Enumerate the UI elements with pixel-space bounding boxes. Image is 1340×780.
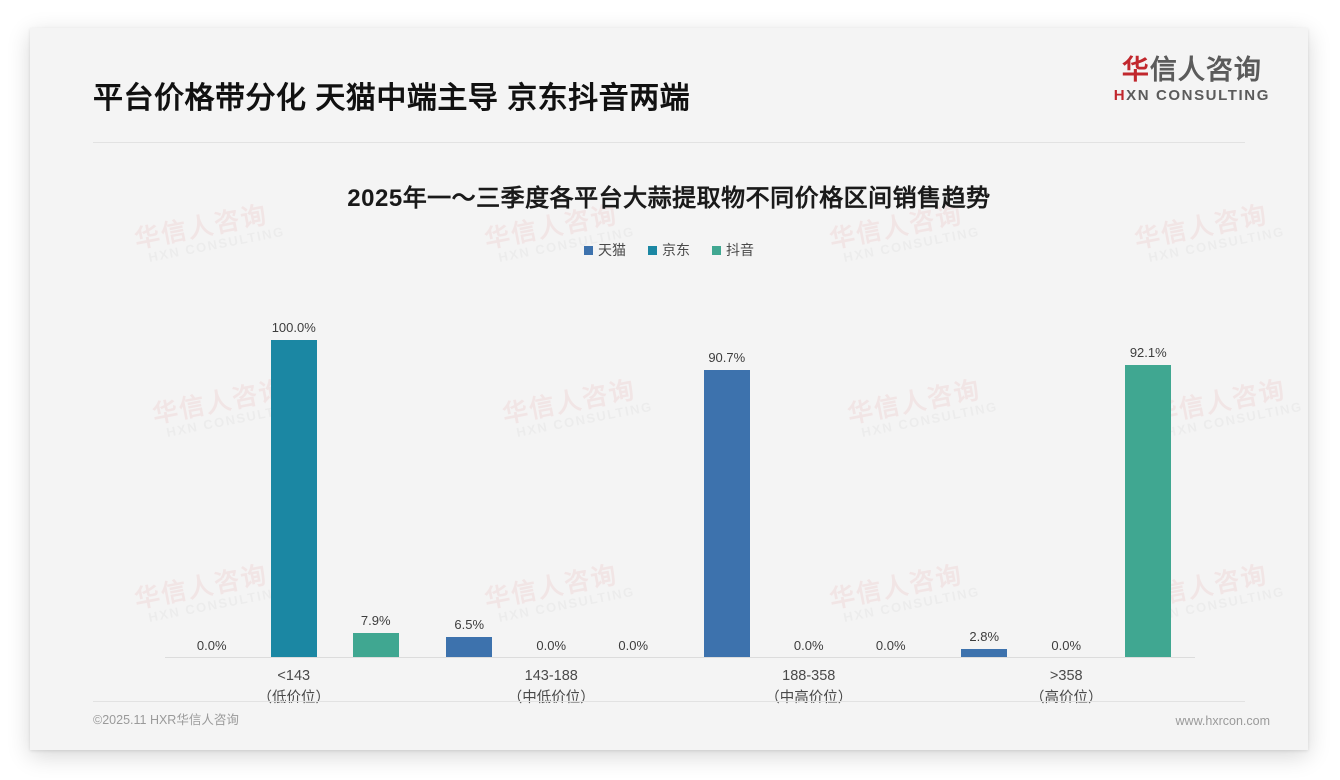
chart-title: 2025年一～三季度各平台大蒜提取物不同价格区间销售趋势 [30,178,1308,213]
bar-group-<143: 0.0%100.0%7.9% [165,283,423,658]
bar-slot: 7.9% [353,283,399,658]
x-tick-range: <143 [165,665,423,687]
bar-slot: 100.0% [271,283,317,658]
brand-logo-cn-rest: 信人咨询 [1150,55,1262,85]
bar-天猫-188-358[interactable] [704,370,750,658]
legend-label: 京东 [662,240,690,260]
x-axis-tick-188-358: 188-358（中高价位） [680,665,938,710]
bar-slot: 0.0% [1043,283,1089,658]
x-axis-tick-<143: <143（低价位） [165,665,423,710]
brand-logo: 华信人咨询 HXN CONSULTING [1114,56,1270,104]
bar-value-label: 90.7% [708,350,745,365]
bar-group->358: 2.8%0.0%92.1% [938,283,1196,658]
x-tick-range: >358 [938,665,1196,687]
brand-logo-en-red: H [1114,87,1126,104]
legend-item-天猫[interactable]: 天猫 [584,240,626,260]
footer-website: www.hxrcon.com [1176,714,1270,728]
legend-label: 抖音 [726,240,754,260]
x-tick-sublabel: （中高价位） [680,687,938,709]
bar-value-label: 0.0% [1051,638,1081,653]
slide-card: 华信人咨询HXN CONSULTING华信人咨询HXN CONSULTING华信… [30,28,1308,750]
bar-value-label: 0.0% [876,638,906,653]
brand-logo-en: HXN CONSULTING [1114,87,1270,104]
x-axis-line [165,657,1195,658]
slide-header: 平台价格带分化 天猫中端主导 京东抖音两端 华信人咨询 HXN CONSULTI… [30,28,1308,118]
bar-value-label: 0.0% [536,638,566,653]
bar-京东-<143[interactable] [271,340,317,658]
bar-value-label: 6.5% [454,617,484,632]
legend-swatch-icon [648,246,657,255]
bar-value-label: 7.9% [361,613,391,628]
bar-slot: 0.0% [786,283,832,658]
legend-swatch-icon [584,246,593,255]
x-axis-tick->358: >358（高价位） [938,665,1196,710]
bar-value-label: 0.0% [794,638,824,653]
bar-group-188-358: 90.7%0.0%0.0% [680,283,938,658]
bar-slot: 0.0% [189,283,235,658]
chart-legend: 天猫京东抖音 [30,240,1308,260]
bar-slot: 0.0% [610,283,656,658]
x-axis-labels: <143（低价位）143-188（中低价位）188-358（中高价位）>358（… [165,665,1195,710]
brand-logo-cn: 华信人咨询 [1114,56,1270,84]
bar-value-label: 100.0% [272,320,316,335]
legend-label: 天猫 [598,240,626,260]
legend-item-京东[interactable]: 京东 [648,240,690,260]
page-title: 平台价格带分化 天猫中端主导 京东抖音两端 [93,73,690,117]
bar-抖音->358[interactable] [1125,365,1171,658]
brand-logo-en-rest: XN CONSULTING [1126,87,1270,104]
bar-slot: 0.0% [528,283,574,658]
legend-item-抖音[interactable]: 抖音 [712,240,754,260]
bar-group-143-188: 6.5%0.0%0.0% [423,283,681,658]
bar-value-label: 0.0% [197,638,227,653]
bar-slot: 92.1% [1125,283,1171,658]
bar-value-label: 92.1% [1130,345,1167,360]
footer-copyright: ©2025.11 HXR华信人咨询 [93,709,239,728]
bar-天猫-143-188[interactable] [446,637,492,658]
x-tick-range: 143-188 [423,665,681,687]
bar-slot: 0.0% [868,283,914,658]
bar-抖音-<143[interactable] [353,633,399,658]
x-tick-range: 188-358 [680,665,938,687]
legend-swatch-icon [712,246,721,255]
x-tick-sublabel: （低价位） [165,687,423,709]
x-axis-tick-143-188: 143-188（中低价位） [423,665,681,710]
bar-value-label: 2.8% [969,629,999,644]
brand-logo-cn-red: 华 [1122,55,1150,85]
bar-value-label: 0.0% [618,638,648,653]
bar-groups: 0.0%100.0%7.9%6.5%0.0%0.0%90.7%0.0%0.0%2… [165,283,1195,658]
x-tick-sublabel: （中低价位） [423,687,681,709]
header-divider [93,142,1245,143]
bar-slot: 2.8% [961,283,1007,658]
bar-slot: 6.5% [446,283,492,658]
bar-slot: 90.7% [704,283,750,658]
footer-divider [93,701,1245,702]
chart-plot-area: 0.0%100.0%7.9%6.5%0.0%0.0%90.7%0.0%0.0%2… [165,283,1195,658]
x-tick-sublabel: （高价位） [938,687,1196,709]
